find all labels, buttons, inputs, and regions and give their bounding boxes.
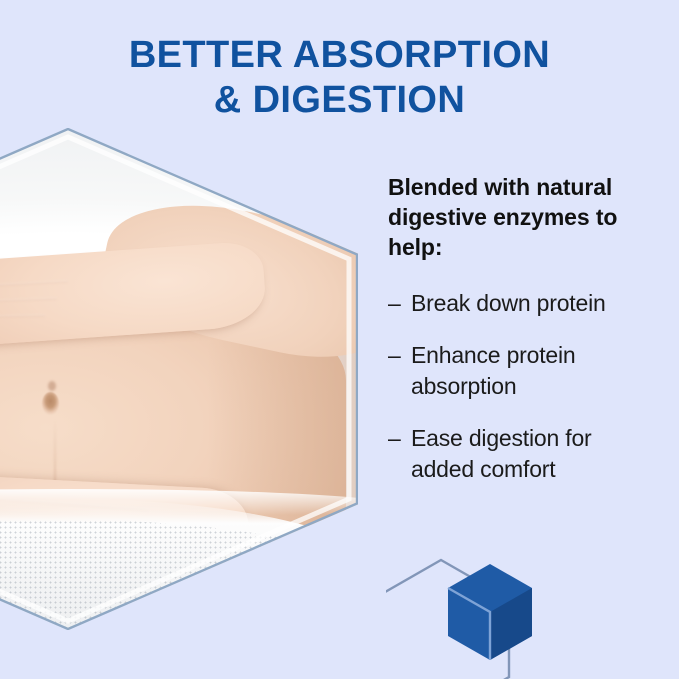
bullet-dash-icon: – xyxy=(388,340,401,371)
hero-photo-image xyxy=(0,128,358,630)
title-line-1: BETTER ABSORPTION xyxy=(0,33,679,78)
promo-canvas: BETTER ABSORPTION & DIGESTION xyxy=(0,0,679,679)
list-item: – Break down protein xyxy=(388,288,660,319)
copy-block: Blended with natural digestive enzymes t… xyxy=(388,172,660,485)
hexagon-logo-mark xyxy=(386,548,586,679)
list-item: – Ease digestion for added comfort xyxy=(388,423,660,485)
list-item-label: Ease digestion for added comfort xyxy=(411,425,592,482)
fabric-edge-highlight xyxy=(0,489,358,514)
bullet-dash-icon: – xyxy=(388,423,401,454)
list-item: – Enhance protein absorption xyxy=(388,340,660,402)
hero-photo-hexagon xyxy=(0,128,358,630)
page-title: BETTER ABSORPTION & DIGESTION xyxy=(0,33,679,123)
bullet-dash-icon: – xyxy=(388,288,401,319)
fabric-dot-texture xyxy=(0,520,358,630)
title-line-2: & DIGESTION xyxy=(0,78,679,123)
list-item-label: Break down protein xyxy=(411,290,606,316)
list-item-label: Enhance protein absorption xyxy=(411,342,576,399)
benefit-list: – Break down protein – Enhance protein a… xyxy=(388,288,660,485)
lede-text: Blended with natural digestive enzymes t… xyxy=(388,172,660,262)
